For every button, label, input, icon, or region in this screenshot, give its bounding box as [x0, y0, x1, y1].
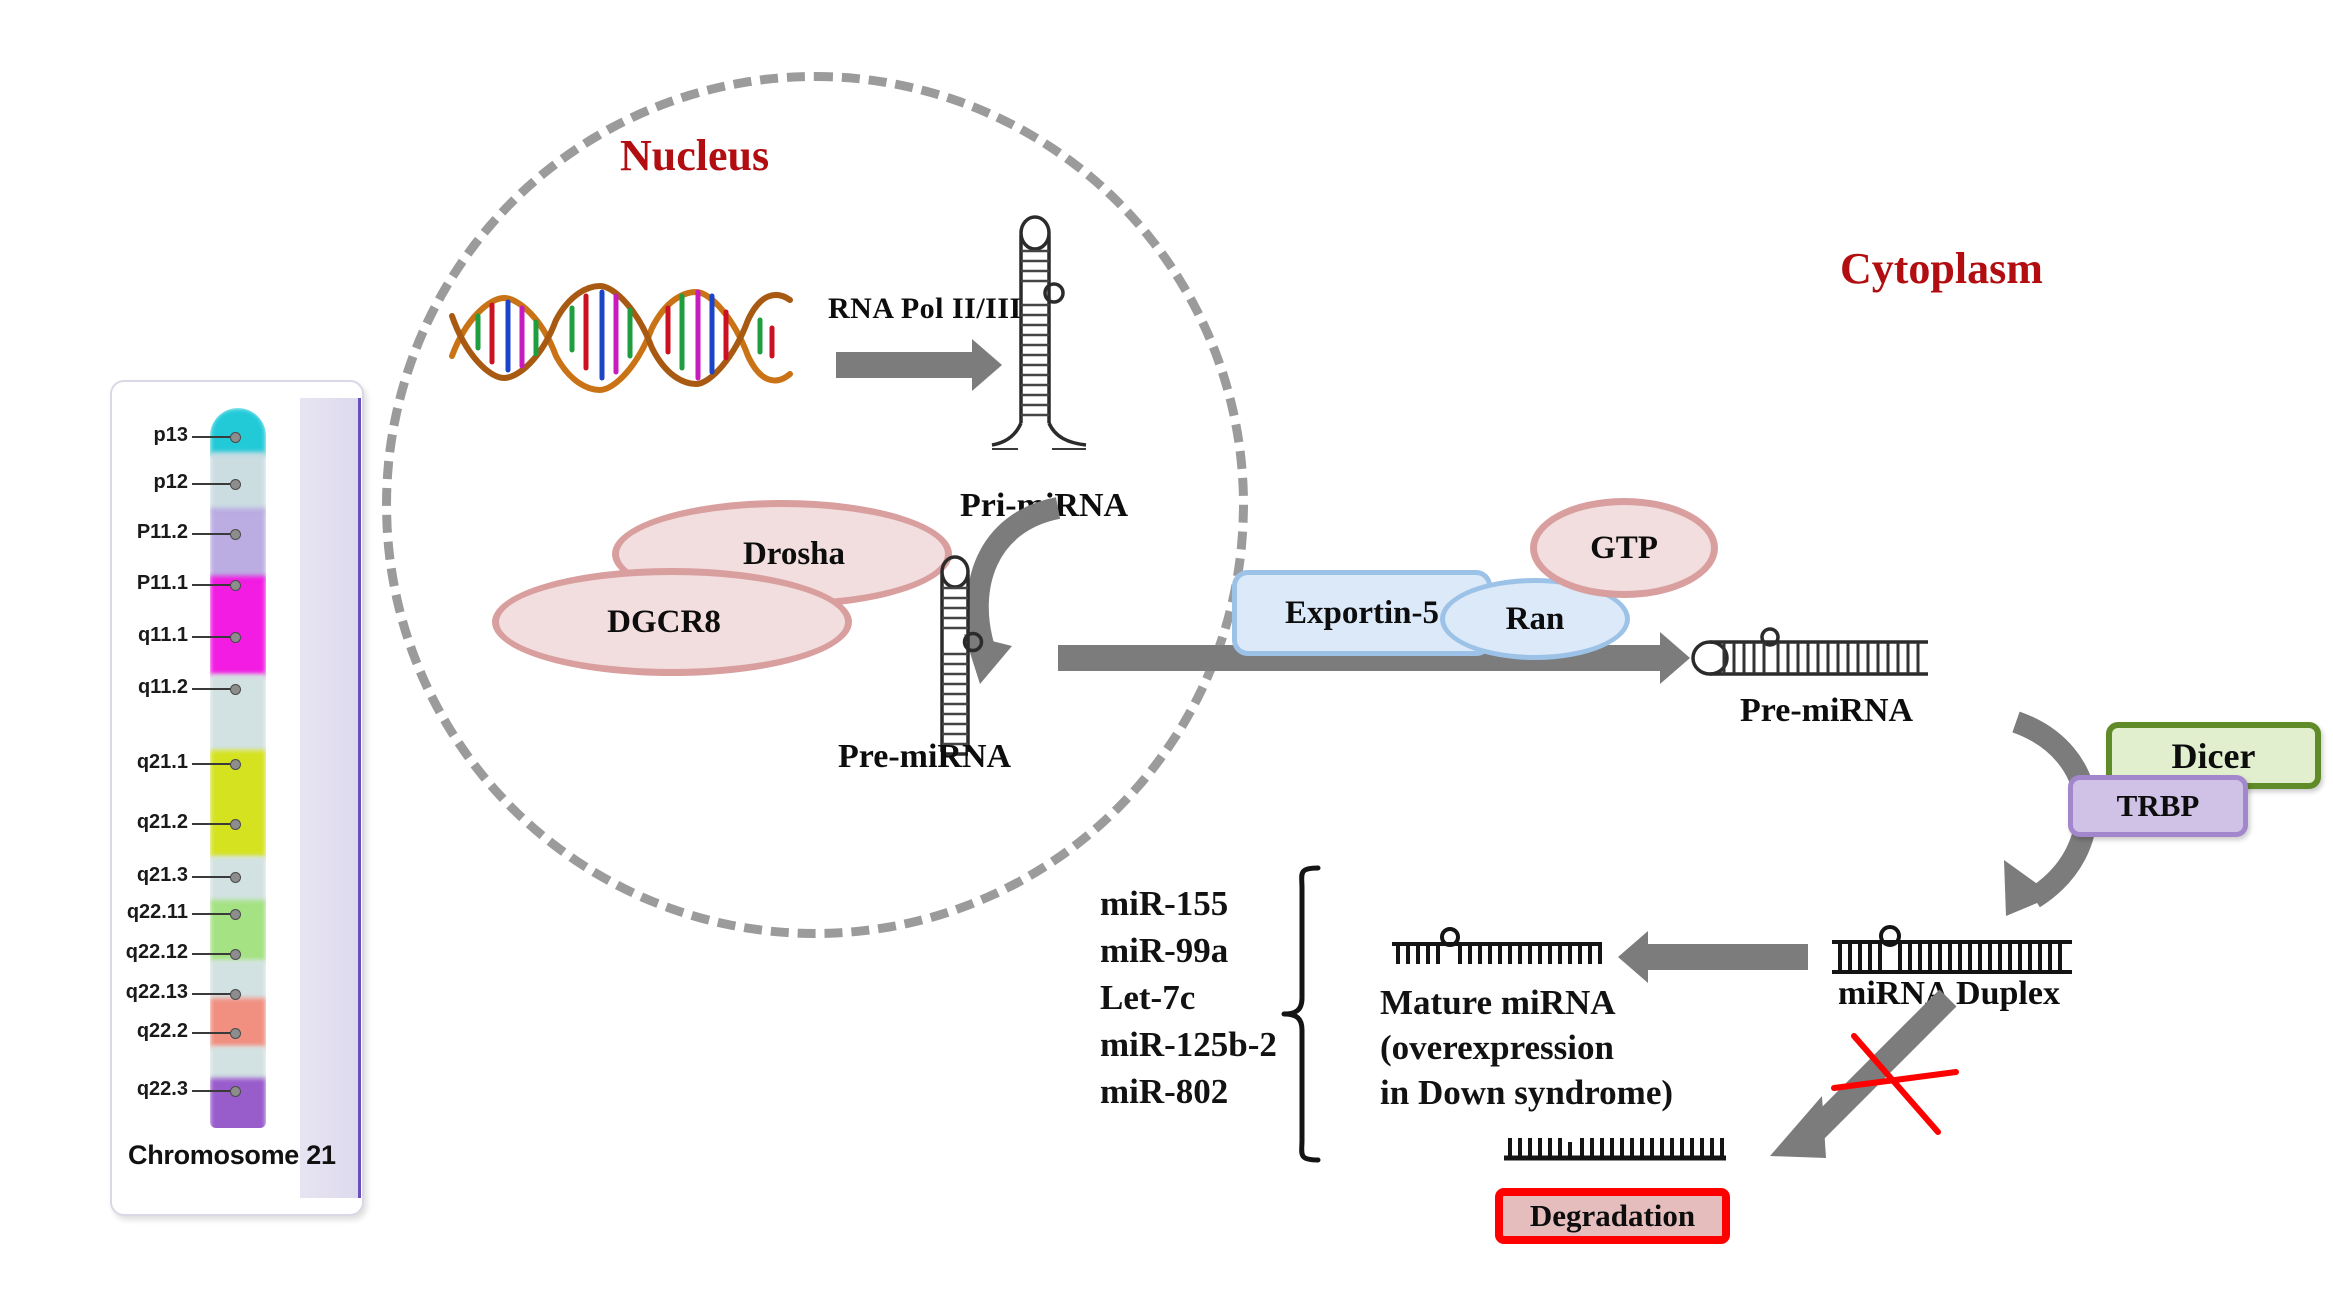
pre-mirna-cytoplasm-label: Pre-miRNA	[1740, 692, 1913, 730]
chromosome-band-label-q22-13: q22.13	[40, 981, 188, 1004]
chromosome-band-label-q11-2: q11.2	[62, 676, 188, 699]
chromosome-leader-line	[192, 993, 234, 995]
mirna-list-item: miR-99a	[1100, 927, 1277, 974]
degradation-arrow-blocked	[1726, 988, 1986, 1188]
dicer-label: Dicer	[2172, 735, 2256, 777]
chromosome-leader-line	[192, 823, 234, 825]
mature-mirna-strand-icon	[1388, 928, 1608, 972]
chromosome-leader-dot	[230, 529, 241, 540]
chromosome-band-q22-2	[210, 1078, 266, 1128]
chromosome-band-label-q22-12: q22.12	[40, 941, 188, 964]
chromosome-leader-line	[192, 953, 234, 955]
chromosome-leader-dot	[230, 909, 241, 920]
pre-mirna-hairpin-cytoplasm-icon	[1690, 630, 1940, 686]
chromosome-leader-dot	[230, 479, 241, 490]
mirna-list-item: miR-125b-2	[1100, 1021, 1277, 1068]
dgcr8-label: DGCR8	[607, 604, 721, 641]
duplex-to-mature-arrow	[1648, 944, 1808, 970]
chromosome-leader-line	[192, 1032, 234, 1034]
chromosome-leader-line	[192, 876, 234, 878]
mature-mirna-caption-line: (overexpression	[1380, 1025, 1673, 1070]
chromosome-leader-line	[192, 1090, 234, 1092]
drosha-label: Drosha	[743, 536, 845, 573]
chromosome-leader-dot	[230, 989, 241, 1000]
chromosome-band-label-q22-3: q22.3	[40, 1078, 188, 1101]
chromosome-band-label-p12: p12	[78, 471, 188, 494]
chromosome-leader-dot	[230, 432, 241, 443]
chromosome-band-q22-13	[210, 1046, 266, 1080]
transcription-arrow	[836, 352, 972, 378]
chromosome-band-label-q22-11: q22.11	[40, 901, 188, 924]
chromosome-leader-dot	[230, 872, 241, 883]
chromosome-leader-dot	[230, 684, 241, 695]
chromosome-leader-dot	[230, 580, 241, 591]
chromosome-band-label-p11-1: P11.1	[62, 572, 188, 595]
chromosome-band-label-p11-2: P11.2	[62, 521, 188, 544]
chromosome-leader-dot	[230, 759, 241, 770]
chromosome-band-q22-12	[210, 998, 266, 1048]
chromosome-band-label-q21-3: q21.3	[62, 864, 188, 887]
chromosome-band-label-p13: p13	[78, 424, 188, 447]
pre-mirna-hairpin-nucleus-icon	[915, 556, 1025, 766]
mirna-list-item: miR-802	[1100, 1068, 1277, 1115]
diagram-canvas: p13 p12 P11.2 P11.1 q11.1 q11.2 q21.1 q2…	[0, 0, 2333, 1299]
chromosome-panel-shade	[300, 398, 361, 1198]
mature-mirna-caption: Mature miRNA (overexpression in Down syn…	[1380, 980, 1673, 1115]
mature-mirna-caption-line: Mature miRNA	[1380, 980, 1673, 1025]
chromosome-band-label-q22-2: q22.2	[40, 1020, 188, 1043]
chromosome-leader-line	[192, 688, 234, 690]
mirna-duplex-icon	[1828, 928, 2078, 980]
cytoplasm-label: Cytoplasm	[1840, 243, 2043, 294]
chromosome-leader-line	[192, 913, 234, 915]
degradation-badge: Degradation	[1495, 1188, 1730, 1244]
pri-mirna-hairpin-icon	[990, 215, 1150, 465]
chromosome-leader-dot	[230, 632, 241, 643]
exportin5-label: Exportin-5	[1285, 595, 1439, 632]
degradation-label: Degradation	[1530, 1198, 1695, 1234]
dna-double-helix-icon	[452, 278, 792, 398]
chromosome-leader-dot	[230, 949, 241, 960]
chromosome-band-label-q11-1: q11.1	[62, 624, 188, 647]
chromosome-band-p11-1-q11-1	[210, 576, 266, 676]
chromosome-band-label-q21-1: q21.1	[62, 751, 188, 774]
chromosome-leader-dot	[230, 819, 241, 830]
mirna-list: miR-155 miR-99a Let-7c miR-125b-2 miR-80…	[1100, 880, 1277, 1115]
chromosome-leader-dot	[230, 1086, 241, 1097]
chromosome-leader-line	[192, 533, 234, 535]
pre-mirna-nucleus-label: Pre-miRNA	[838, 738, 1011, 776]
gtp-label: GTP	[1590, 530, 1658, 567]
chromosome-band-p11-2	[210, 508, 266, 580]
chromosome-caption: Chromosome 21	[128, 1140, 358, 1171]
chromosome-leader-line	[192, 436, 234, 438]
mirna-list-item: miR-155	[1100, 880, 1277, 927]
degraded-mirna-strand-icon	[1500, 1128, 1730, 1170]
nucleus-label: Nucleus	[620, 130, 769, 181]
ran-label: Ran	[1506, 601, 1565, 638]
mirna-list-bracket	[1272, 864, 1332, 1164]
chromosome-leader-line	[192, 763, 234, 765]
mature-mirna-caption-line: in Down syndrome)	[1380, 1070, 1673, 1115]
trbp-protein: TRBP	[2068, 775, 2248, 837]
trbp-label: TRBP	[2117, 788, 2200, 824]
chromosome-leader-line	[192, 584, 234, 586]
chromosome-leader-line	[192, 636, 234, 638]
chromosome-leader-dot	[230, 1028, 241, 1039]
chromosome-leader-line	[192, 483, 234, 485]
mirna-list-item: Let-7c	[1100, 974, 1277, 1021]
gtp-protein: GTP	[1530, 498, 1718, 598]
chromosome-band-label-q21-2: q21.2	[62, 811, 188, 834]
dgcr8-protein: DGCR8	[492, 568, 852, 676]
